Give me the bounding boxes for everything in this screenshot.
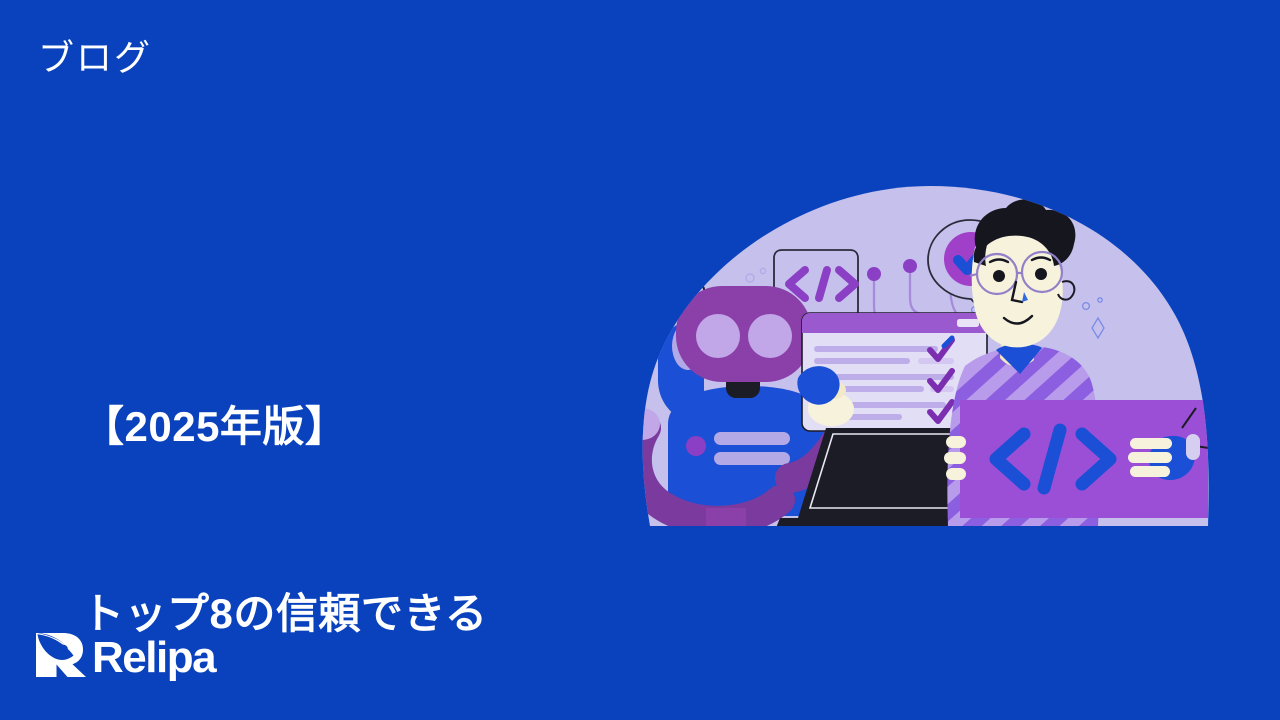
brand-logo: Relipa (32, 630, 215, 685)
page-category-label: ブログ (38, 36, 152, 79)
no-code-ai-illustration (630, 178, 1230, 548)
relipa-r-mark-icon (32, 630, 90, 685)
slide-canvas: ブログ 【2025年版】 トップ8の信頼できる ノーコードAI ツール Reli… (0, 0, 1280, 720)
page-title-line-1: 【2025年版】 (82, 396, 488, 458)
brand-logo-text: Relipa (92, 636, 215, 680)
